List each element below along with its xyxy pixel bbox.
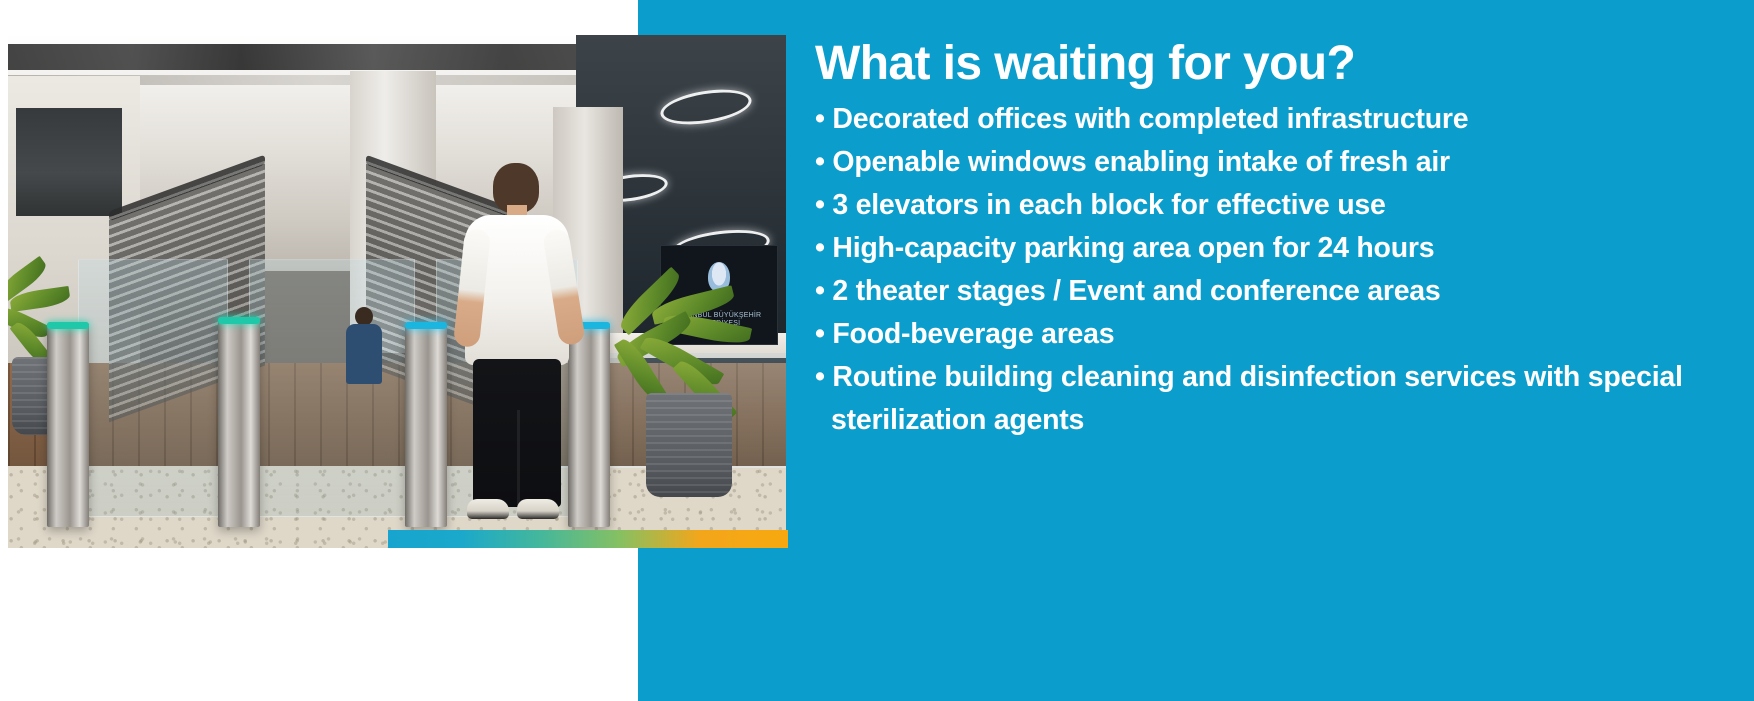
turnstile-gate bbox=[218, 317, 260, 527]
turnstile-gate bbox=[47, 322, 89, 527]
photo-canvas: İSTANBUL BÜYÜKŞEHİR BELEDİYESİ bbox=[8, 35, 786, 548]
list-item: • Food-beverage areas bbox=[815, 313, 1740, 356]
background-person bbox=[343, 307, 385, 410]
list-item: • 2 theater stages / Event and conferenc… bbox=[815, 270, 1740, 313]
lobby-photo: İSTANBUL BÜYÜKŞEHİR BELEDİYESİ bbox=[8, 35, 786, 548]
person-body bbox=[346, 324, 382, 384]
person-shoe bbox=[517, 499, 559, 519]
gate-glass-barrier bbox=[249, 259, 414, 518]
page-title: What is waiting for you? bbox=[815, 36, 1740, 92]
turnstile-gate bbox=[405, 322, 447, 527]
foreground-person bbox=[459, 163, 577, 532]
plant-pot-right bbox=[646, 393, 732, 497]
text-content: What is waiting for you? • Decorated off… bbox=[815, 36, 1740, 442]
list-item: • 3 elevators in each block for effectiv… bbox=[815, 184, 1740, 227]
accent-gradient-bar bbox=[388, 530, 788, 548]
list-item: • Openable windows enabling intake of fr… bbox=[815, 141, 1740, 184]
list-item: • High-capacity parking area open for 24… bbox=[815, 227, 1740, 270]
ring-light-icon bbox=[658, 84, 754, 130]
gate-status-led bbox=[218, 317, 260, 324]
list-item: • Routine building cleaning and disinfec… bbox=[815, 356, 1740, 442]
slide-root: İSTANBUL BÜYÜKŞEHİR BELEDİYESİ bbox=[0, 0, 1754, 701]
feature-bullet-list: • Decorated offices with completed infra… bbox=[815, 98, 1740, 442]
list-item: • Decorated offices with completed infra… bbox=[815, 98, 1740, 141]
gate-glass-barrier bbox=[78, 259, 228, 518]
gate-status-led bbox=[47, 322, 89, 329]
person-trousers bbox=[473, 359, 561, 507]
gate-status-led bbox=[405, 322, 447, 329]
person-shoe bbox=[467, 499, 509, 519]
